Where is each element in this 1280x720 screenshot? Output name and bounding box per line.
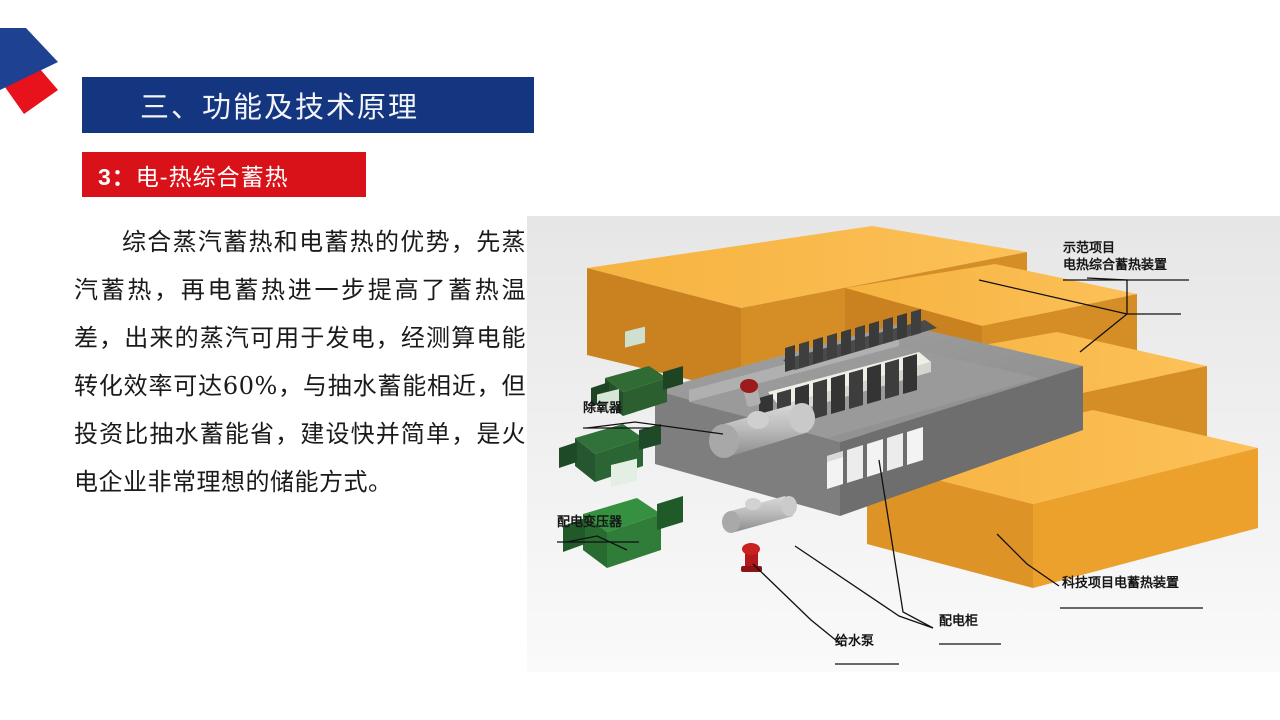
- subsection-label: 电-热综合蓄热: [136, 165, 289, 191]
- illustration-panel: 示范项目 电热综合蓄热装置 科技项目电蓄热装置 除氧器 配电变压器 给水泵 配电…: [527, 216, 1280, 672]
- section-title-text: 三、功能及技术原理: [140, 84, 419, 126]
- label-sci-project: 科技项目电蓄热装置: [1062, 575, 1179, 592]
- label-demo-project-line1: 示范项目: [1063, 240, 1167, 257]
- label-demo-project: 示范项目 电热综合蓄热装置: [1063, 240, 1167, 274]
- tank-valve-red: [740, 379, 758, 393]
- subsection-title-bar: 3：电-热综合蓄热: [82, 152, 366, 197]
- label-transformer: 配电变压器: [557, 514, 622, 531]
- 3d-plant-diagram: [527, 216, 1280, 672]
- subsection-number: 3：: [98, 164, 136, 190]
- subsection-title-text: 3：电-热综合蓄热: [98, 158, 289, 192]
- label-feedwater-pump: 给水泵: [835, 633, 874, 650]
- slide-canvas: 三、功能及技术原理 3：电-热综合蓄热 综合蒸汽蓄热和电蓄热的优势，先蒸汽蓄热，…: [0, 0, 1280, 720]
- body-paragraph: 综合蒸汽蓄热和电蓄热的优势，先蒸汽蓄热，再电蓄热进一步提高了蓄热温差，出来的蒸汽…: [74, 218, 526, 506]
- label-demo-project-line2: 电热综合蓄热装置: [1063, 257, 1167, 274]
- section-title-banner: 三、功能及技术原理: [82, 77, 534, 133]
- decorative-arrow-graphic: [0, 28, 64, 120]
- label-deaerator: 除氧器: [583, 400, 622, 417]
- label-switchgear: 配电柜: [939, 613, 978, 630]
